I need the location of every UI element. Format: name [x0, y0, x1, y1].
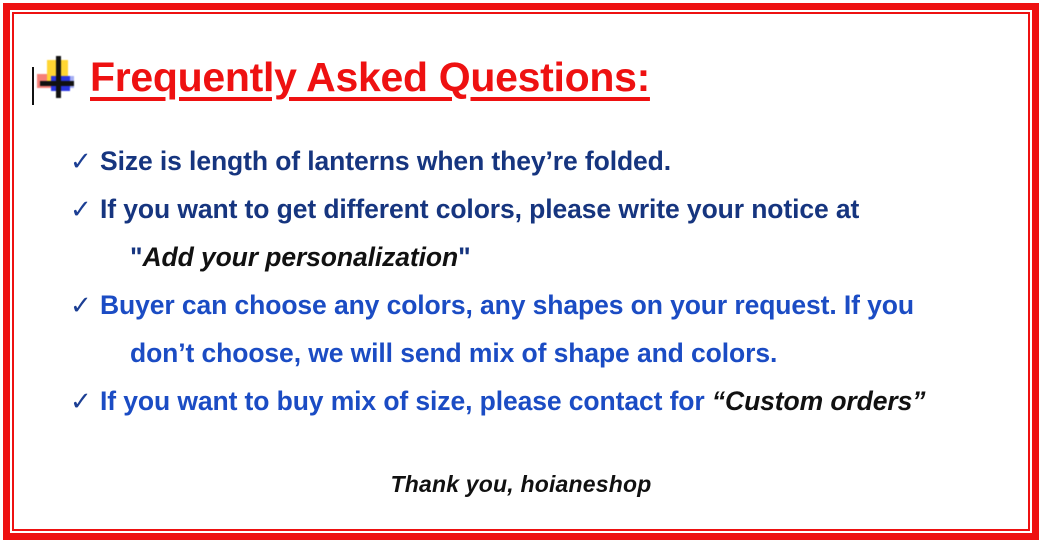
list-item-continuation: "Add your personalization" — [70, 242, 1016, 290]
custom-orders-open-quote: “ — [712, 386, 725, 416]
custom-orders-emphasis: Custom orders — [725, 386, 912, 416]
custom-orders-lead-text: If you want to buy mix of size, please c… — [100, 386, 712, 416]
check-icon: ✓ — [70, 196, 100, 222]
list-item-continuation: don’t choose, we will send mix of shape … — [70, 338, 1016, 386]
list-item: ✓ If you want to get different colors, p… — [70, 194, 1016, 242]
list-item: ✓ Buyer can choose any colors, any shape… — [70, 290, 1016, 338]
colored-cross-clipart-icon — [36, 56, 76, 100]
faq-bullet-list: ✓ Size is length of lanterns when they’r… — [70, 146, 1016, 434]
open-quote: " — [130, 242, 142, 272]
title-row: Frequently Asked Questions: — [32, 54, 650, 101]
check-icon: ✓ — [70, 148, 100, 174]
list-item-label: If you want to buy mix of size, please c… — [100, 386, 925, 417]
personalization-field-name: Add your personalization — [142, 242, 458, 272]
footer-thank-you: Thank you, hoianeshop — [16, 471, 1026, 498]
list-item: ✓ If you want to buy mix of size, please… — [70, 386, 1016, 434]
list-item: ✓ Size is length of lanterns when they’r… — [70, 146, 1016, 194]
custom-orders-close-quote: ” — [912, 386, 925, 416]
personalization-quote: "Add your personalization" — [100, 242, 471, 273]
list-item-label: Size is length of lanterns when they’re … — [100, 146, 671, 177]
close-quote: " — [458, 242, 470, 272]
slide-content: Frequently Asked Questions: ✓ Size is le… — [16, 16, 1026, 527]
check-icon: ✓ — [70, 292, 100, 318]
check-icon: ✓ — [70, 388, 100, 414]
list-item-label: Buyer can choose any colors, any shapes … — [100, 290, 914, 321]
list-item-label-wrap: don’t choose, we will send mix of shape … — [100, 338, 777, 369]
list-item-label: If you want to get different colors, ple… — [100, 194, 859, 225]
page-title: Frequently Asked Questions: — [90, 54, 650, 101]
text-cursor-caret — [32, 67, 34, 105]
faq-slide: Frequently Asked Questions: ✓ Size is le… — [0, 0, 1042, 543]
